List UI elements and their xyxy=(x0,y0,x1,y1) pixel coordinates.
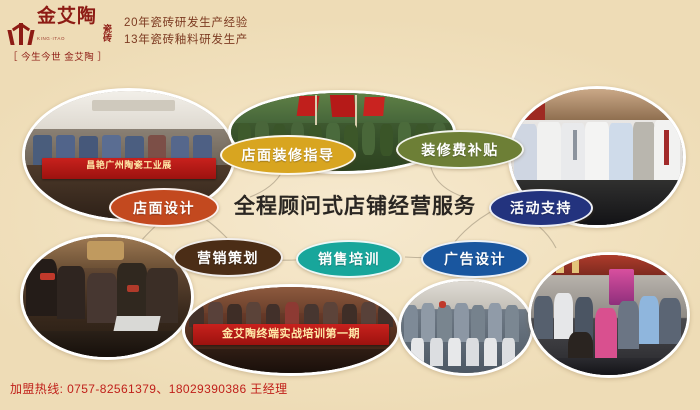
hotline-text: 加盟热线: 0757-82561379、18029390386 王经理 xyxy=(10,380,288,397)
brand-name-en: KING·ITAO xyxy=(37,36,65,41)
brand-logo: 金艾陶 KING·ITAO 瓷 砖 ［ 今生今世 金艾陶 ］ xyxy=(8,6,112,62)
center-title: 全程顾问式店铺经营服务 xyxy=(224,188,486,222)
brand-slogan: ［ 今生今世 金艾陶 ］ xyxy=(8,49,112,63)
service-pill-label: 营销策划 xyxy=(197,248,259,268)
promo-banner: 金艾陶 KING·ITAO 瓷 砖 ［ 今生今世 金艾陶 ］ 20年瓷砖研发生产… xyxy=(0,0,700,410)
logo-side-characters: 瓷 砖 xyxy=(103,25,112,45)
service-pill-event-support[interactable]: 活动支持 xyxy=(489,189,593,227)
service-pill-advertising-design[interactable]: 广告设计 xyxy=(421,240,529,278)
service-pill-sales-training[interactable]: 销售培训 xyxy=(296,240,402,278)
tagline-1: 20年瓷砖研发生产经验 xyxy=(124,15,248,32)
service-pill-label: 广告设计 xyxy=(444,249,506,269)
banner-caption-training: 金艾陶终端实战培训第一期 xyxy=(222,328,360,340)
service-pill-store-design[interactable]: 店面设计 xyxy=(109,188,219,227)
logo-text-block: 金艾陶 KING·ITAO xyxy=(37,6,99,45)
tagline-2: 13年瓷砖釉料研发生产 xyxy=(124,32,248,49)
service-pill-label: 活动支持 xyxy=(510,198,572,218)
service-pill-label: 店面装修指导 xyxy=(242,145,335,165)
service-pill-label: 销售培训 xyxy=(318,249,380,269)
photo-training-conference: 金艾陶终端实战培训第一期 xyxy=(182,284,400,376)
footer: 加盟热线: 0757-82561379、18029390386 王经理 xyxy=(10,380,288,397)
photo-workshop-laptops xyxy=(20,234,194,360)
side-char-bottom: 砖 xyxy=(103,33,112,43)
service-pill-decoration-fee-subsidy[interactable]: 装修费补贴 xyxy=(396,130,524,169)
banner-strip-training: 金艾陶终端实战培训第一期 xyxy=(193,324,388,345)
header: 金艾陶 KING·ITAO 瓷 砖 ［ 今生今世 金艾陶 ］ 20年瓷砖研发生产… xyxy=(0,0,700,72)
service-pill-marketing-planning[interactable]: 营销策划 xyxy=(173,238,283,277)
banner-strip-exhibition: 昌艳广州陶瓷工业展 xyxy=(42,158,217,180)
brand-name-cn: 金艾陶 xyxy=(37,5,97,27)
mountain-logo-icon xyxy=(8,21,34,45)
service-pill-store-decoration-guidance[interactable]: 店面装修指导 xyxy=(220,135,356,175)
banner-caption-exhibition: 昌艳广州陶瓷工业展 xyxy=(86,160,172,170)
photo-staff-assembly xyxy=(398,278,534,376)
service-pill-label: 装修费补贴 xyxy=(421,140,499,160)
service-pill-label: 店面设计 xyxy=(133,198,195,218)
photo-store-crowd xyxy=(528,252,690,378)
header-taglines: 20年瓷砖研发生产经验 13年瓷砖釉料研发生产 xyxy=(124,15,248,49)
